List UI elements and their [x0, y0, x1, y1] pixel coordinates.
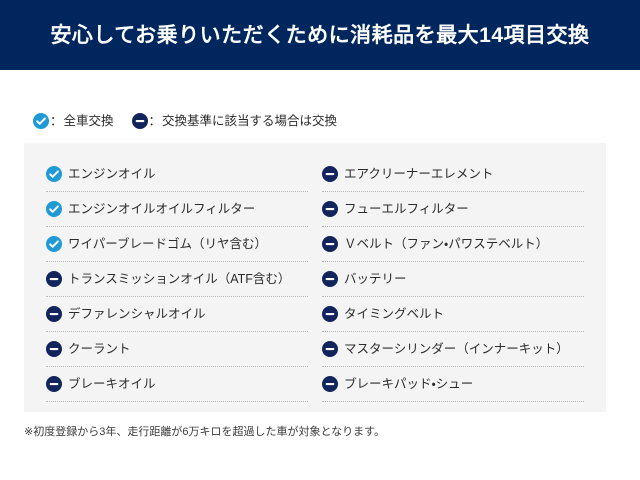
legend-separator-conditional: ：	[149, 115, 162, 128]
list-item: フューエルフィルター	[322, 192, 584, 227]
list-item-label: デファレンシャルオイル	[68, 308, 206, 321]
list-item: エンジンオイル	[46, 157, 308, 192]
list-item-label: エアクリーナーエレメント	[344, 168, 493, 181]
list-item-label: トランスミッションオイル（ATF含む）	[68, 273, 290, 286]
legend-label-all-vehicles: 全車交換	[64, 115, 114, 128]
legend-item-conditional: ： 交換基準に該当する場合は交換	[132, 110, 338, 132]
minus-circle-icon	[322, 201, 338, 217]
minus-circle-icon	[322, 166, 338, 182]
list-item: Ｖベルト（ファン・パワステベルト）	[322, 227, 584, 262]
legend: ： 全車交換 ： 交換基準に該当する場合は交換	[33, 110, 337, 132]
list-item: エンジンオイルオイルフィルター	[46, 192, 308, 227]
list-item: デファレンシャルオイル	[46, 297, 308, 332]
legend-label-conditional: 交換基準に該当する場合は交換	[162, 115, 337, 128]
minus-circle-icon	[46, 376, 62, 392]
list-item: トランスミッションオイル（ATF含む）	[46, 262, 308, 297]
list-item-label: Ｖベルト（ファン・パワステベルト）	[344, 238, 548, 251]
legend-item-all-vehicles: ： 全車交換	[33, 110, 114, 132]
check-circle-icon	[46, 236, 62, 252]
minus-circle-icon	[46, 341, 62, 357]
replacement-items-right-column: エアクリーナーエレメント フューエルフィルター Ｖベルト（ファン・パワステベルト…	[322, 157, 584, 402]
minus-circle-icon	[46, 306, 62, 322]
list-item-label: バッテリー	[344, 273, 407, 286]
list-item: ブレーキオイル	[46, 367, 308, 402]
minus-circle-icon	[322, 306, 338, 322]
check-circle-icon	[33, 113, 49, 129]
page-title: 安心してお乗りいただくために消耗品を最大14項目交換	[50, 25, 589, 46]
minus-circle-icon	[322, 236, 338, 252]
consumables-replacement-infographic: 安心してお乗りいただくために消耗品を最大14項目交換 ： 全車交換 ： 交換基準…	[0, 0, 640, 480]
list-item-label: ワイパーブレードゴム（リヤ含む）	[68, 238, 267, 251]
list-item-label: エンジンオイル	[68, 168, 156, 181]
legend-separator-all-vehicles: ：	[50, 115, 63, 128]
header-bar: 安心してお乗りいただくために消耗品を最大14項目交換	[0, 0, 640, 70]
list-item-label: エンジンオイルオイルフィルター	[68, 203, 255, 216]
replacement-items-panel: エンジンオイル エンジンオイルオイルフィルター ワイパーブレードゴム（リヤ含む）…	[24, 143, 606, 412]
list-item: ワイパーブレードゴム（リヤ含む）	[46, 227, 308, 262]
list-item-label: タイミングベルト	[344, 308, 444, 321]
minus-circle-icon	[322, 376, 338, 392]
list-item-label: フューエルフィルター	[344, 203, 469, 216]
replacement-items-left-column: エンジンオイル エンジンオイルオイルフィルター ワイパーブレードゴム（リヤ含む）…	[46, 157, 308, 402]
list-item: クーラント	[46, 332, 308, 367]
minus-circle-icon	[322, 341, 338, 357]
list-item-label: ブレーキオイル	[68, 378, 156, 391]
list-item: ブレーキパッド・シュー	[322, 367, 584, 402]
minus-circle-icon	[132, 113, 148, 129]
list-item: タイミングベルト	[322, 297, 584, 332]
list-item-label: ブレーキパッド・シュー	[344, 378, 473, 391]
check-circle-icon	[46, 201, 62, 217]
list-item: エアクリーナーエレメント	[322, 157, 584, 192]
list-item: バッテリー	[322, 262, 584, 297]
minus-circle-icon	[322, 271, 338, 287]
check-circle-icon	[46, 166, 62, 182]
minus-circle-icon	[46, 271, 62, 287]
list-item-label: クーラント	[68, 343, 131, 356]
footnote: ※初度登録から3年、走行距離が6万キロを超過した車が対象となります。	[24, 427, 385, 438]
list-item-label: マスターシリンダー（インナーキット）	[344, 343, 569, 356]
list-item: マスターシリンダー（インナーキット）	[322, 332, 584, 367]
